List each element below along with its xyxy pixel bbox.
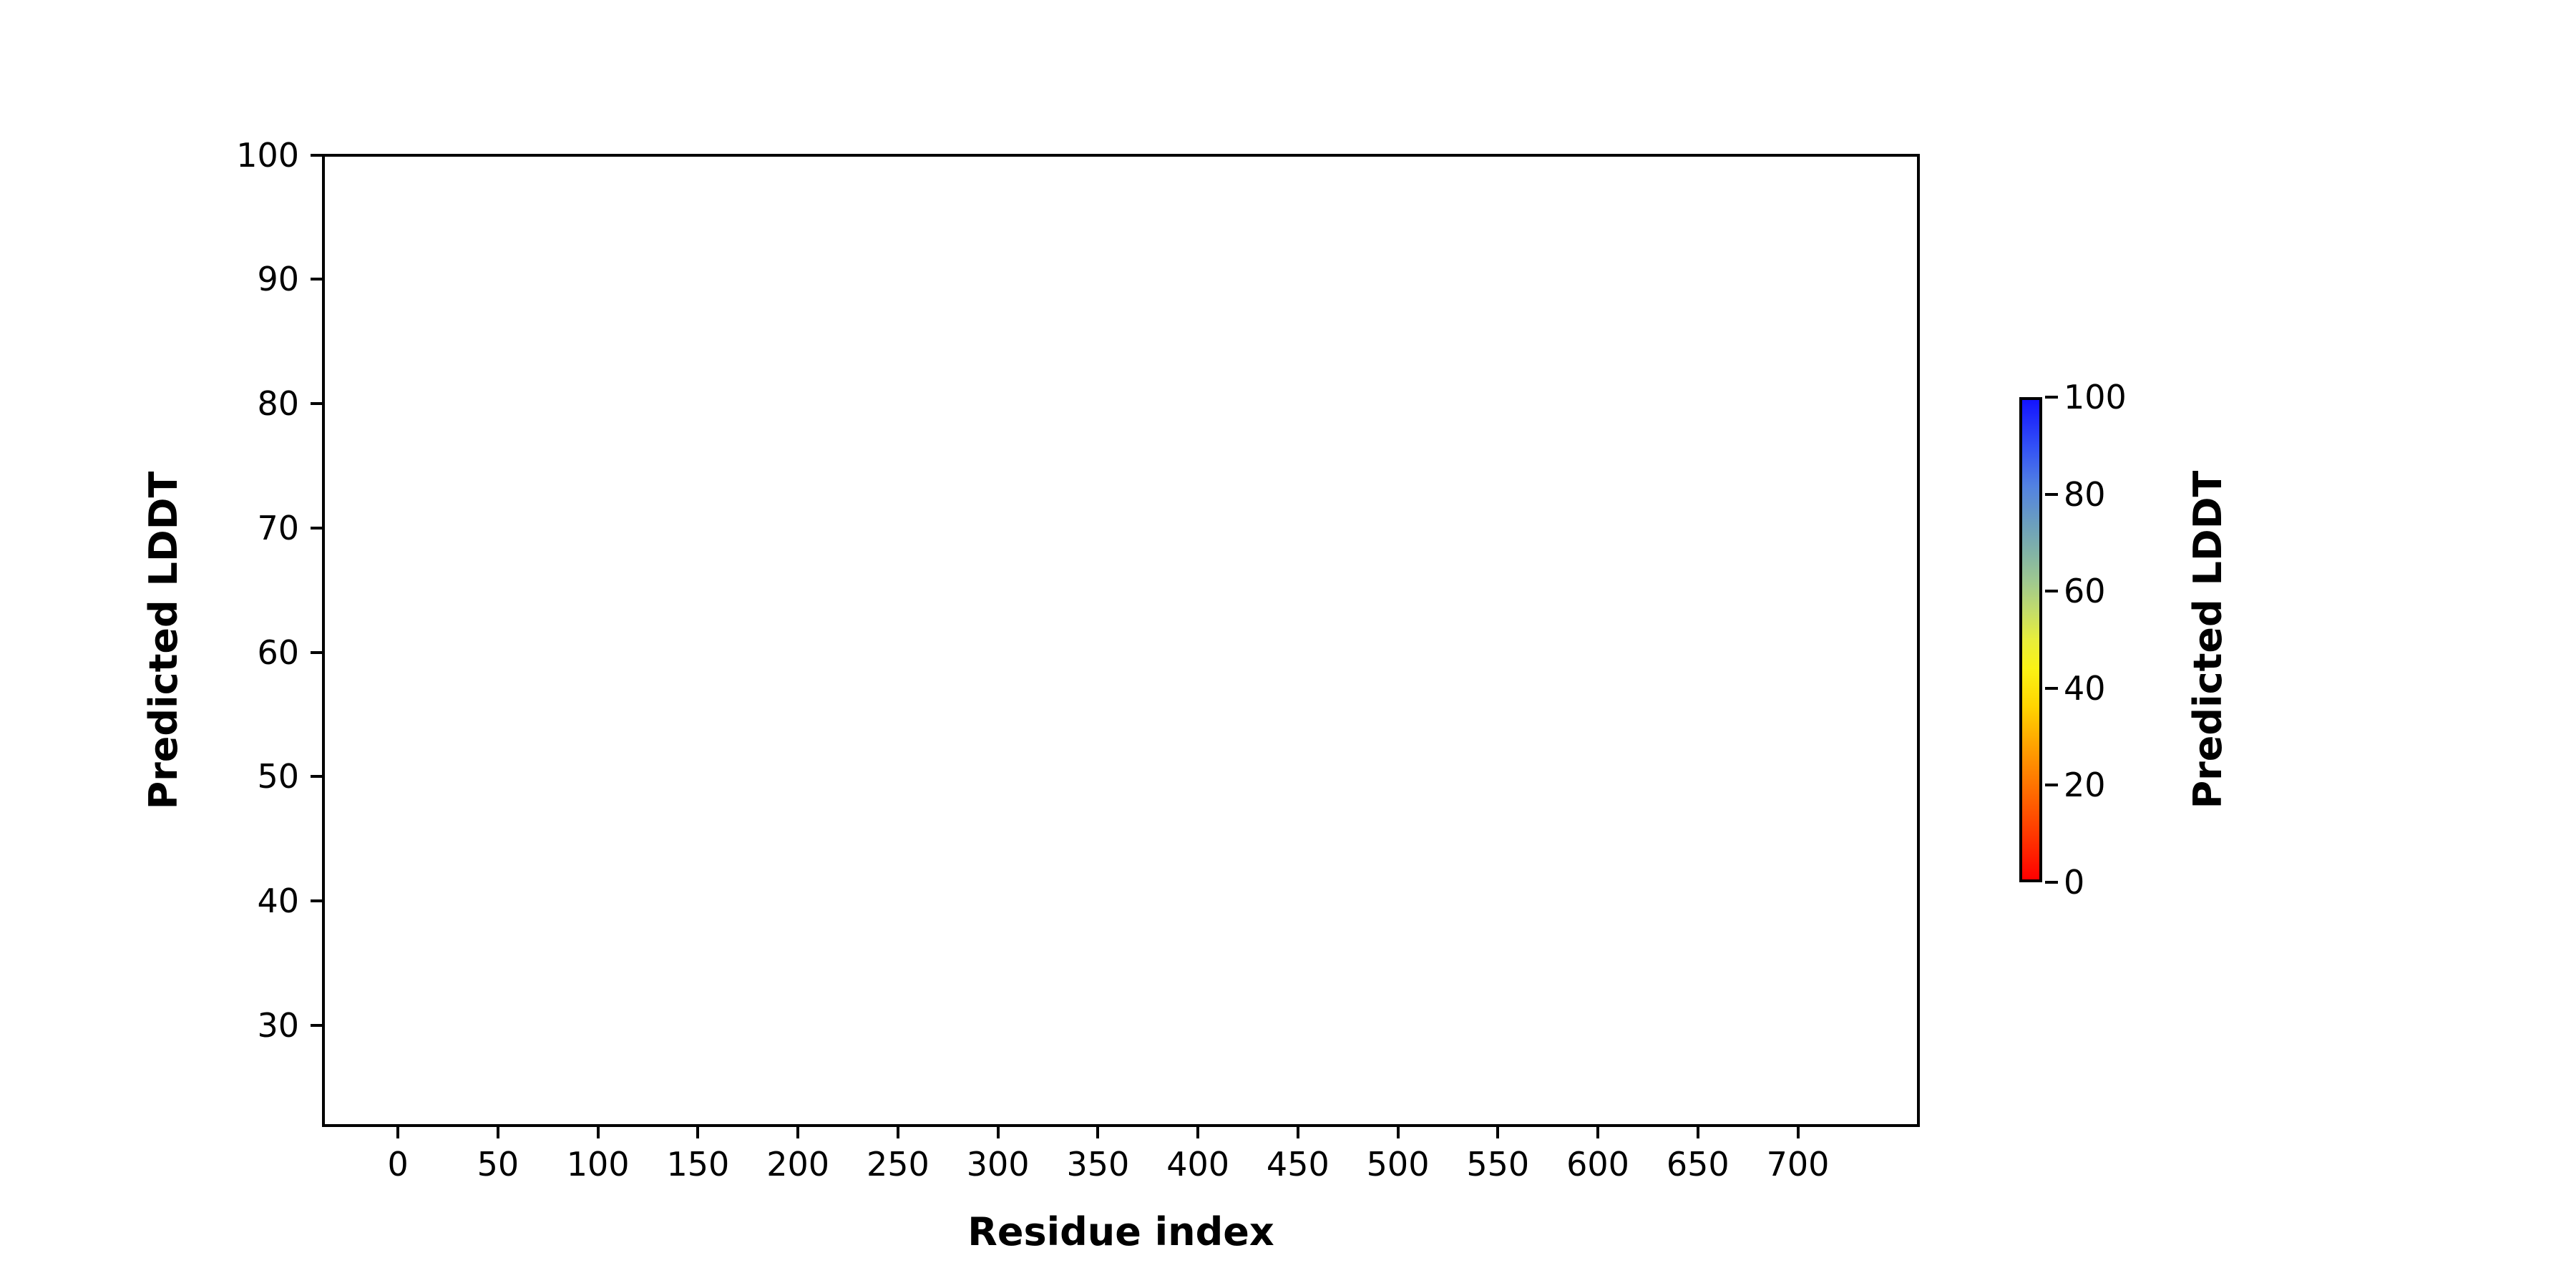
y-tick-label: 100 (236, 136, 299, 175)
x-axis-label: Residue index (322, 1209, 1920, 1254)
x-tick-label: 50 (477, 1145, 519, 1184)
y-tick (311, 527, 322, 530)
x-tick (1697, 1127, 1699, 1138)
colorbar-tick-label: 20 (2064, 766, 2106, 804)
y-tick (311, 278, 322, 280)
x-tick-label: 700 (1767, 1145, 1830, 1184)
x-tick-label: 150 (667, 1145, 730, 1184)
y-tick (311, 1024, 322, 1027)
y-tick-label: 60 (257, 633, 299, 672)
x-tick-label: 400 (1166, 1145, 1229, 1184)
y-tick (311, 775, 322, 778)
colorbar-tick-label: 80 (2064, 475, 2106, 514)
x-tick (497, 1127, 499, 1138)
x-tick (696, 1127, 699, 1138)
x-tick (1496, 1127, 1499, 1138)
x-tick (396, 1127, 399, 1138)
y-tick-label: 80 (257, 384, 299, 423)
x-tick (997, 1127, 1000, 1138)
x-tick-label: 550 (1466, 1145, 1529, 1184)
y-tick-label: 30 (257, 1006, 299, 1045)
x-tick (597, 1127, 600, 1138)
x-tick (796, 1127, 799, 1138)
y-tick (311, 154, 322, 157)
colorbar (2019, 397, 2042, 882)
y-tick-label: 90 (257, 260, 299, 298)
figure-canvas: 0501001502002503003504004505005506006507… (0, 0, 2576, 1288)
y-tick-label: 40 (257, 882, 299, 920)
x-tick-label: 650 (1667, 1145, 1729, 1184)
colorbar-tick (2045, 493, 2058, 496)
x-tick-label: 350 (1066, 1145, 1129, 1184)
y-tick-label: 50 (257, 757, 299, 796)
x-tick-label: 250 (867, 1145, 930, 1184)
x-tick-label: 300 (967, 1145, 1030, 1184)
colorbar-tick (2045, 881, 2058, 884)
axes-frame (322, 154, 1920, 1127)
y-axis-label: Predicted LDDT (141, 154, 205, 1127)
x-tick-label: 100 (567, 1145, 630, 1184)
y-tick-label: 70 (257, 509, 299, 547)
colorbar-tick-label: 0 (2064, 863, 2084, 902)
colorbar-tick (2045, 396, 2058, 399)
colorbar-tick (2045, 590, 2058, 592)
x-tick (1196, 1127, 1199, 1138)
colorbar-tick-label: 60 (2064, 572, 2106, 610)
y-tick (311, 899, 322, 902)
x-tick-label: 450 (1267, 1145, 1330, 1184)
x-tick-label: 500 (1367, 1145, 1430, 1184)
x-tick-label: 200 (766, 1145, 829, 1184)
x-tick (1297, 1127, 1299, 1138)
colorbar-tick (2045, 687, 2058, 690)
colorbar-tick-label: 100 (2064, 378, 2127, 416)
colorbar-label: Predicted LDDT (2185, 397, 2243, 882)
x-tick (1596, 1127, 1599, 1138)
colorbar-tick-label: 40 (2064, 669, 2106, 708)
y-tick (311, 651, 322, 654)
colorbar-tick (2045, 784, 2058, 786)
x-tick-label: 600 (1566, 1145, 1629, 1184)
x-tick (1797, 1127, 1800, 1138)
x-tick (1397, 1127, 1400, 1138)
x-tick (1096, 1127, 1099, 1138)
x-tick (897, 1127, 899, 1138)
x-tick-label: 0 (388, 1145, 409, 1184)
colorbar-gradient (2019, 397, 2042, 882)
y-tick (311, 402, 322, 405)
